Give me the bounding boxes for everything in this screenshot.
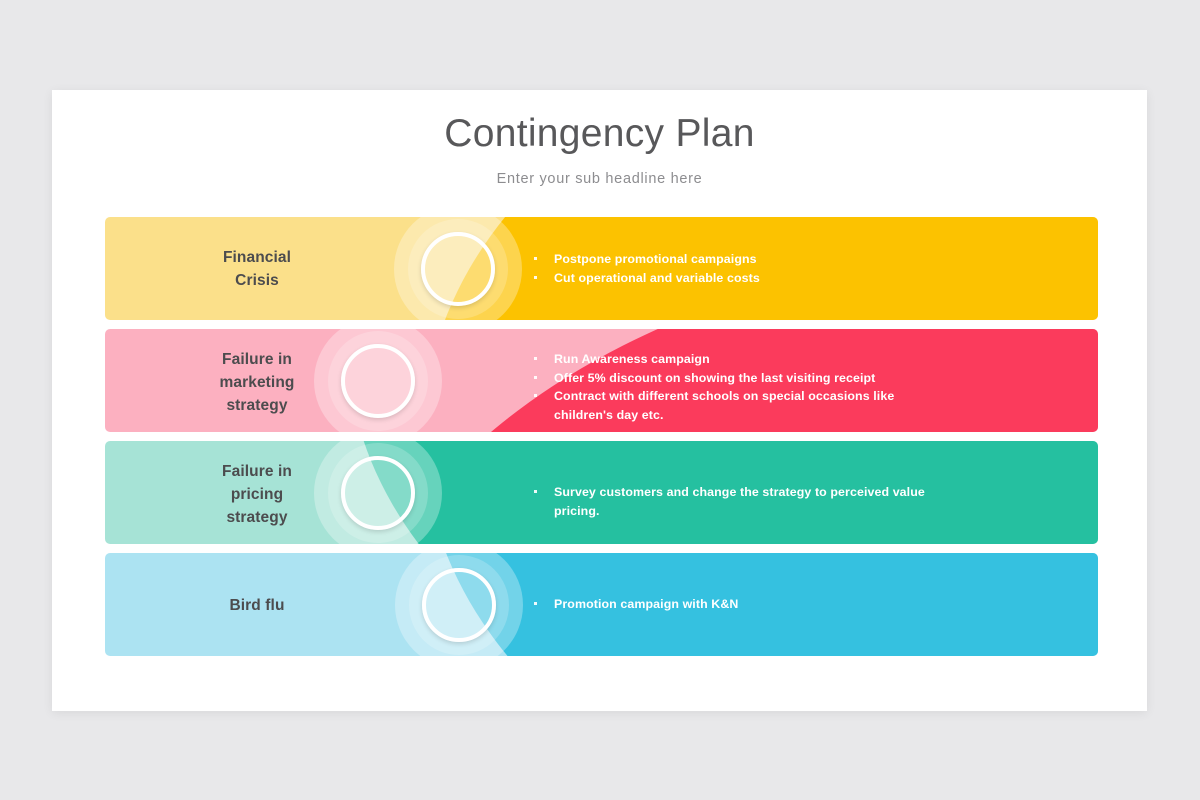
- plan-row-financial-crisis[interactable]: Financial Crisis Postpone promotional ca…: [105, 217, 1098, 320]
- row-bullet-list: Postpone promotional campaigns Cut opera…: [531, 250, 1061, 287]
- row-bullet-list: Promotion campaign with K&N: [531, 595, 951, 614]
- plan-row-pricing-failure[interactable]: Failure in pricing strategy Survey custo…: [105, 441, 1098, 544]
- slide-canvas: Contingency Plan Enter your sub headline…: [52, 90, 1147, 711]
- row-label: Financial Crisis: [152, 246, 362, 292]
- page-subtitle: Enter your sub headline here: [52, 171, 1147, 187]
- row-label: Failure in marketing strategy: [152, 348, 362, 417]
- list-item: Cut operational and variable costs: [531, 269, 1061, 288]
- list-item: Promotion campaign with K&N: [531, 595, 951, 614]
- row-marker-circle[interactable]: [422, 568, 496, 642]
- list-item: Postpone promotional campaigns: [531, 250, 1061, 269]
- page-title: Contingency Plan: [52, 112, 1147, 156]
- plan-row-bird-flu[interactable]: Bird flu Promotion campaign with K&N: [105, 553, 1098, 656]
- list-item: Run Awareness campaign: [531, 350, 951, 369]
- list-item: Contract with different schools on speci…: [531, 387, 951, 424]
- row-label: Failure in pricing strategy: [152, 460, 362, 529]
- plan-row-marketing-failure[interactable]: Failure in marketing strategy Run Awaren…: [105, 329, 1098, 432]
- row-label: Bird flu: [152, 594, 362, 617]
- list-item: Offer 5% discount on showing the last vi…: [531, 369, 951, 388]
- row-marker-circle[interactable]: [421, 232, 495, 306]
- row-bullet-list: Survey customers and change the strategy…: [531, 483, 951, 520]
- row-bullet-list: Run Awareness campaign Offer 5% discount…: [531, 350, 951, 424]
- list-item: Survey customers and change the strategy…: [531, 483, 951, 520]
